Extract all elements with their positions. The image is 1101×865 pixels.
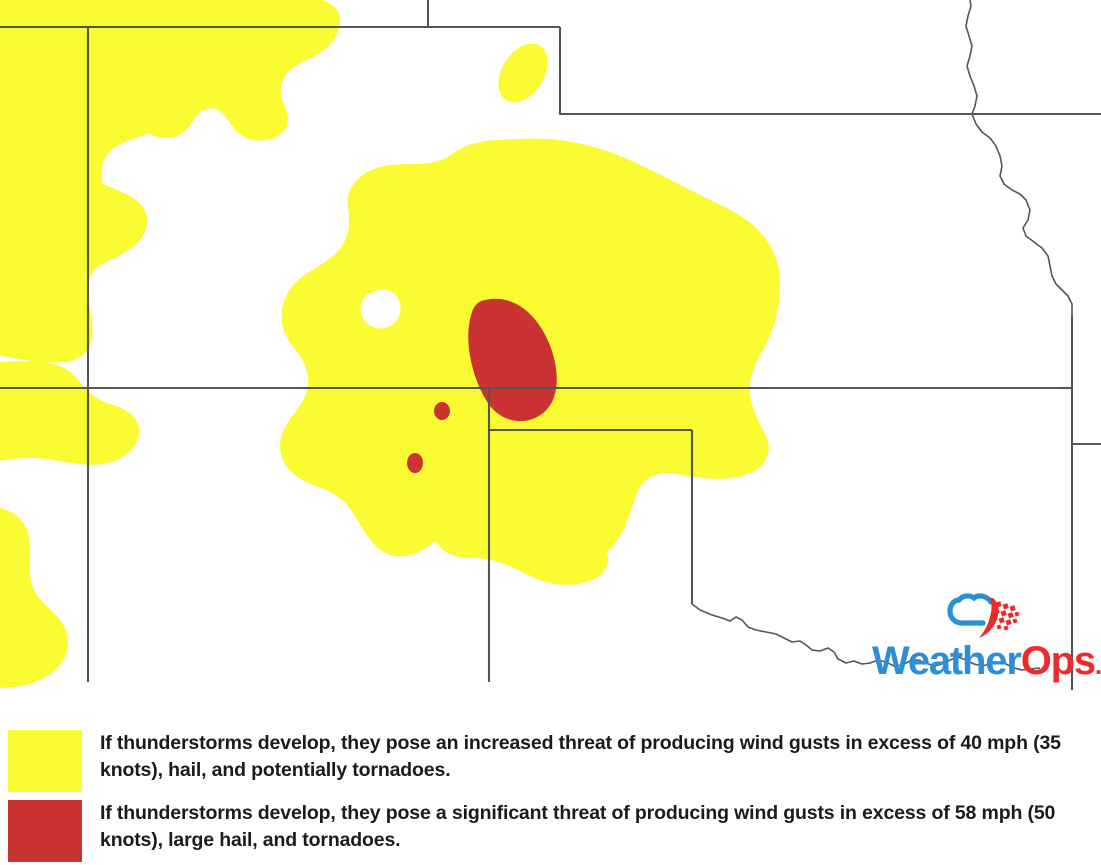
map-canvas[interactable]	[0, 0, 1101, 690]
map-legend: If thunderstorms develop, they pose an i…	[0, 690, 1101, 865]
outlook-map[interactable]: WeatherOps.	[0, 0, 1101, 690]
risk-polygon-yellow-main-notch	[361, 290, 401, 329]
legend-swatch-yellow	[8, 730, 82, 792]
risk-polygon-red-dot-upper	[434, 402, 450, 420]
legend-text-increased: If thunderstorms develop, they pose an i…	[100, 730, 1091, 784]
legend-item-significant: If thunderstorms develop, they pose a si…	[0, 800, 1101, 862]
weather-outlook-page: WeatherOps. If thunderstorms develop, th…	[0, 0, 1101, 865]
legend-item-increased: If thunderstorms develop, they pose an i…	[0, 730, 1101, 792]
risk-polygon-red-dot-lower	[407, 453, 423, 473]
legend-text-significant: If thunderstorms develop, they pose a si…	[100, 800, 1091, 854]
legend-swatch-red	[8, 800, 82, 862]
